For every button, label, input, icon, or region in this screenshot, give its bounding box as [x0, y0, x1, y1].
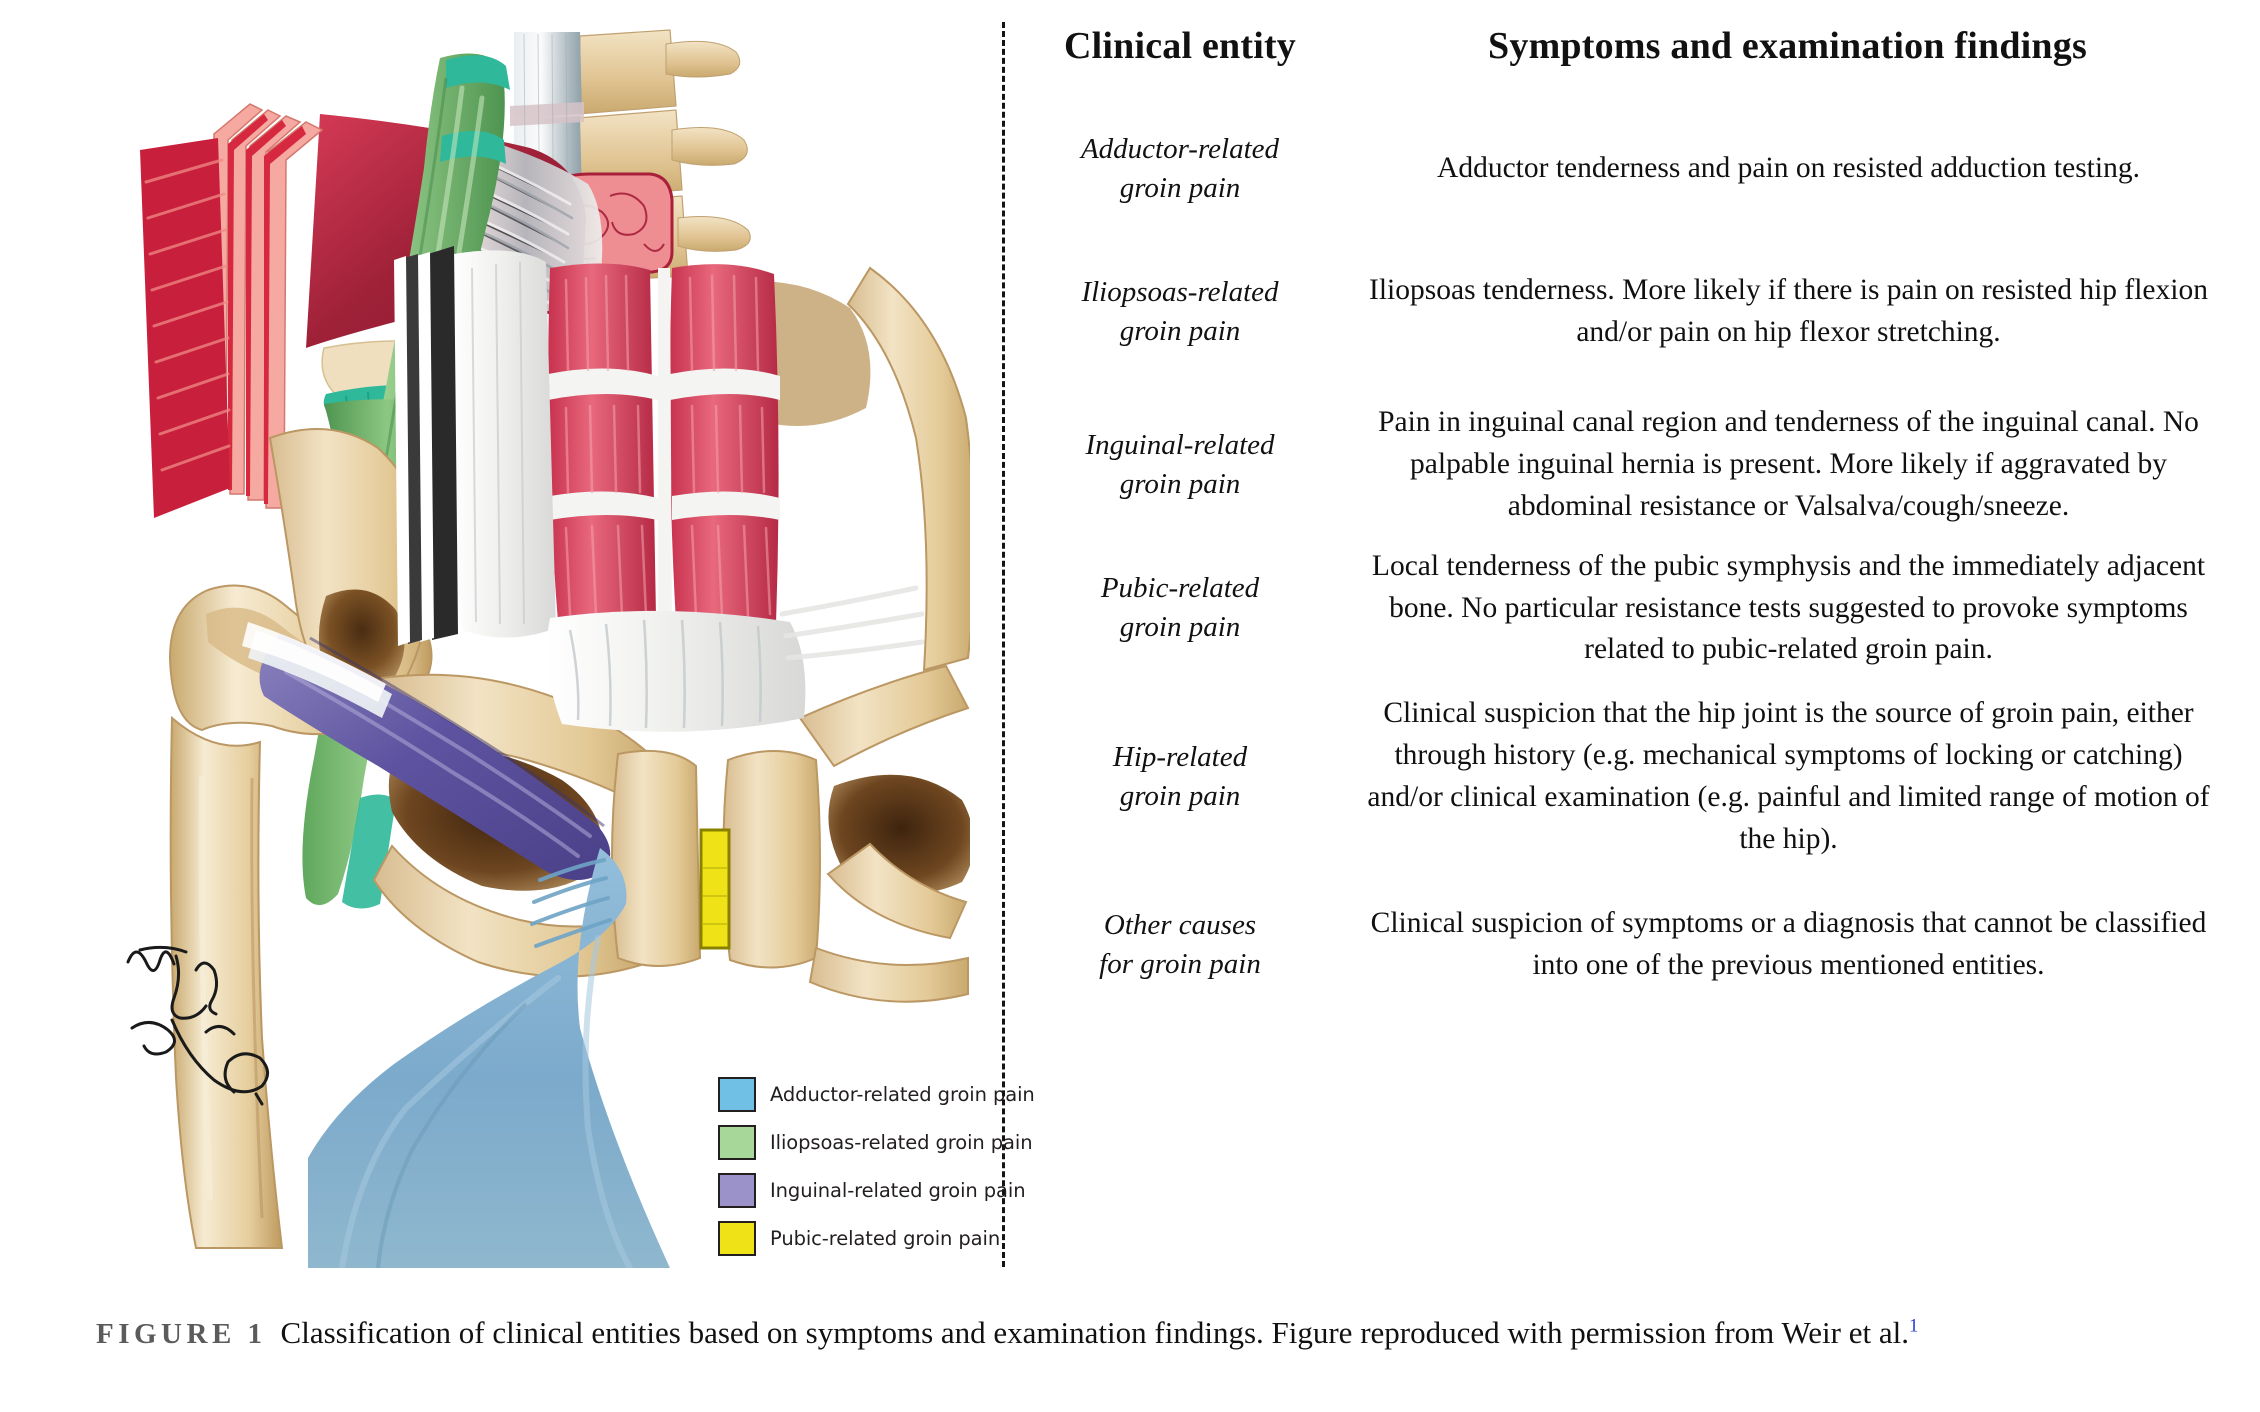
- legend-label-iliopsoas: Iliopsoas-related groin pain: [770, 1131, 1032, 1154]
- entity-label-pubic: Pubic-relatedgroin pain: [1030, 569, 1330, 647]
- table-row: Adductor-relatedgroin pain Adductor tend…: [1030, 130, 2225, 208]
- table-row: Inguinal-relatedgroin pain Pain in ingui…: [1030, 402, 2225, 528]
- legend-swatch-pubic: [718, 1221, 756, 1256]
- legend-item-pubic: Pubic-related groin pain: [718, 1214, 1048, 1262]
- findings-text-hip: Clinical suspicion that the hip joint is…: [1330, 693, 2225, 861]
- entity-label-iliopsoas: Iliopsoas-relatedgroin pain: [1030, 273, 1330, 351]
- legend-swatch-inguinal: [718, 1173, 756, 1208]
- table-row: Pubic-relatedgroin pain Local tenderness…: [1030, 546, 2225, 672]
- legend-label-inguinal: Inguinal-related groin pain: [770, 1179, 1025, 1202]
- clinical-entity-table: Clinical entity Symptoms and examination…: [1030, 24, 2225, 987]
- entity-label-adductor: Adductor-relatedgroin pain: [1030, 130, 1330, 208]
- legend-label-adductor: Adductor-related groin pain: [770, 1083, 1035, 1106]
- findings-text-inguinal: Pain in inguinal canal region and tender…: [1330, 402, 2225, 528]
- table-row: Hip-relatedgroin pain Clinical suspicion…: [1030, 693, 2225, 861]
- entity-label-other: Other causesfor groin pain: [1030, 906, 1330, 984]
- illustration-legend: Adductor-related groin pain Iliopsoas-re…: [718, 1070, 1048, 1262]
- figure-number-label: FIGURE 1: [96, 1318, 267, 1350]
- entity-label-inguinal: Inguinal-relatedgroin pain: [1030, 426, 1330, 504]
- rectus-abdominis-muscle: [394, 246, 780, 646]
- legend-item-adductor: Adductor-related groin pain: [718, 1070, 1048, 1118]
- legend-label-pubic: Pubic-related groin pain: [770, 1227, 1000, 1250]
- entity-label-hip: Hip-relatedgroin pain: [1030, 738, 1330, 816]
- table-header-row: Clinical entity Symptoms and examination…: [1030, 24, 2225, 68]
- pubic-symphysis-marker: [701, 830, 729, 948]
- legend-item-inguinal: Inguinal-related groin pain: [718, 1166, 1048, 1214]
- findings-text-other: Clinical suspicion of symptoms or a diag…: [1330, 903, 2225, 987]
- legend-item-iliopsoas: Iliopsoas-related groin pain: [718, 1118, 1048, 1166]
- vertical-dashed-divider: [1002, 22, 1005, 1267]
- citation-reference-link[interactable]: 1: [1909, 1316, 1919, 1337]
- legend-swatch-adductor: [718, 1077, 756, 1112]
- figure-caption: FIGURE 1Classification of clinical entit…: [96, 1310, 2186, 1357]
- table-row: Iliopsoas-relatedgroin pain Iliopsoas te…: [1030, 270, 2225, 354]
- findings-text-pubic: Local tenderness of the pubic symphysis …: [1330, 546, 2225, 672]
- column-header-clinical-entity: Clinical entity: [1030, 24, 1330, 68]
- column-header-findings: Symptoms and examination findings: [1330, 24, 2225, 68]
- figure-caption-text: Classification of clinical entities base…: [281, 1315, 1909, 1350]
- table-row: Other causesfor groin pain Clinical susp…: [1030, 903, 2225, 987]
- findings-text-adductor: Adductor tenderness and pain on resisted…: [1330, 148, 2225, 190]
- anatomical-illustration: Adductor-related groin pain Iliopsoas-re…: [110, 18, 970, 1268]
- legend-swatch-iliopsoas: [718, 1125, 756, 1160]
- findings-text-iliopsoas: Iliopsoas tenderness. More likely if the…: [1330, 270, 2225, 354]
